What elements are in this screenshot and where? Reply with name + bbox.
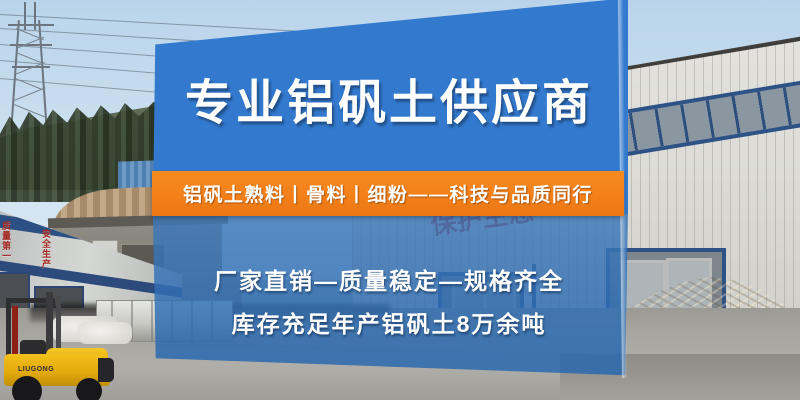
banner-headline: 专业铝矾土供应商	[150, 78, 628, 130]
banner-subline-1: 厂家直销—质量稳定—规格齐全	[150, 262, 628, 296]
banner-subline-2: 库存充足年产铝矾土8万余吨	[150, 305, 628, 339]
transmission-tower	[8, 2, 54, 132]
banner-image: 质 量 第 一 安 全 生 产 保护生态	[0, 0, 800, 400]
forklift: LIUGONG	[2, 292, 152, 398]
banner-content: 专业铝矾土供应商 铝矾土熟料丨骨料丨细粉——科技与品质同行 厂家直销—质量稳定—…	[150, 0, 628, 400]
banner-highlight-text: 铝矾土熟料丨骨料丨细粉——科技与品质同行	[183, 180, 593, 207]
forklift-brand-label: LIUGONG	[18, 366, 54, 373]
banner-highlight-bar: 铝矾土熟料丨骨料丨细粉——科技与品质同行	[152, 171, 624, 216]
